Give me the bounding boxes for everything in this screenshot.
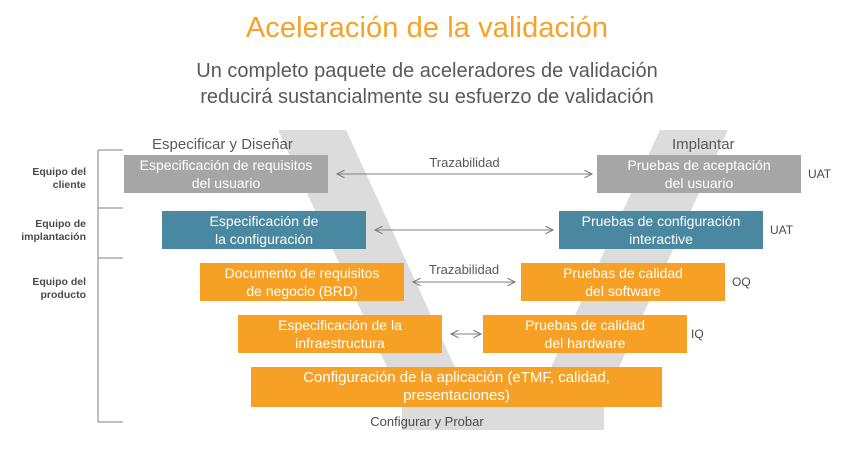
tag-oq-row-3: OQ [732,275,751,289]
box-row4-right-line1: Pruebas de calidad [525,316,645,334]
team-label-implantacion-line1: Equipo de [0,218,86,231]
box-especificacion-infraestructura[interactable]: Especificación de la infraestructura [238,315,442,353]
box-especificacion-configuracion[interactable]: Especificación de la configuración [162,211,366,249]
box-row2-left-line1: Especificación de [210,212,319,230]
arrow-label-row-3: Trazabilidad [413,262,515,277]
team-label-cliente-line1: Equipo del [0,166,86,179]
box-row4-right-line2: del hardware [525,334,645,352]
box-pruebas-calidad-hardware[interactable]: Pruebas de calidad del hardware [483,315,687,353]
team-label-cliente-line2: cliente [0,179,86,192]
team-label-producto-line2: producto [0,289,86,302]
infographic-canvas: Aceleración de la validación Un completo… [0,0,854,449]
tag-uat-row-1: UAT [808,167,831,181]
box-row2-right-line2: interactive [582,230,741,248]
page-subtitle: Un completo paquete de aceleradores de v… [0,58,854,110]
box-configuracion-aplicacion[interactable]: Configuración de la aplicación (eTMF, ca… [251,367,662,407]
subtitle-line-2: reducirá sustancialmente su esfuerzo de … [0,84,854,110]
box-pruebas-aceptacion-usuario[interactable]: Pruebas de aceptación del usuario [597,155,801,193]
box-row3-left-line2: de negocio (BRD) [225,282,380,300]
box-documento-requisitos-negocio[interactable]: Documento de requisitos de negocio (BRD) [200,263,404,301]
team-label-implantacion-line2: implantación [0,231,86,244]
phase-caption-bottom: Configurar y Probar [0,414,854,429]
team-label-implantacion: Equipo de implantación [0,218,86,244]
box-especificacion-requisitos-usuario[interactable]: Especificación de requisitos del usuario [124,155,328,193]
arrow-label-row-1: Trazabilidad [337,155,592,170]
box-pruebas-configuracion-interactive[interactable]: Pruebas de configuración interactive [559,211,763,249]
team-label-producto: Equipo del producto [0,276,86,302]
box-row2-right-line1: Pruebas de configuración [582,212,741,230]
box-row3-right-line1: Pruebas de calidad [563,264,683,282]
box-row1-right-line2: del usuario [627,174,770,192]
box-row3-right-line2: del software [563,282,683,300]
box-row1-right-line1: Pruebas de aceptación [627,156,770,174]
box-row1-left-line1: Especificación de requisitos [140,156,313,174]
page-title: Aceleración de la validación [0,12,854,45]
tag-uat-row-2: UAT [770,223,793,237]
box-row4-left-line2: infraestructura [278,334,402,352]
box-row2-left-line2: la configuración [210,230,319,248]
box-row3-left-line1: Documento de requisitos [225,264,380,282]
phase-caption-right: Implantar [672,136,735,153]
tag-iq-row-4: IQ [691,327,704,341]
box-row4-left-line1: Especificación de la [278,316,402,334]
box-pruebas-calidad-software[interactable]: Pruebas de calidad del software [521,263,725,301]
team-label-cliente: Equipo del cliente [0,166,86,192]
phase-caption-left: Especificar y Diseñar [152,136,293,153]
box-row1-left-line2: del usuario [140,174,313,192]
subtitle-line-1: Un completo paquete de aceleradores de v… [0,58,854,84]
team-label-producto-line1: Equipo del [0,276,86,289]
